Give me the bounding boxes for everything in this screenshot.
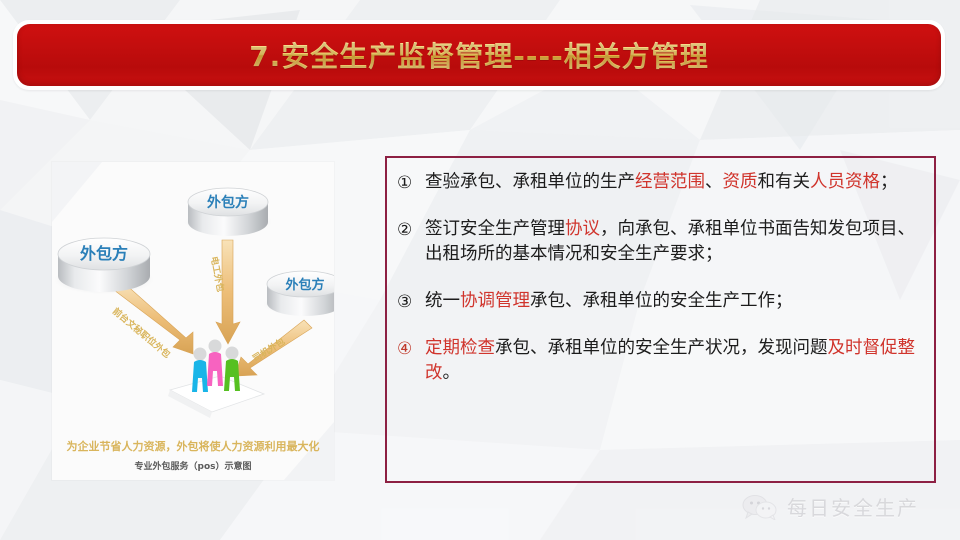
- figure-node-top: 外包方: [188, 188, 268, 236]
- requirements-list: ① 查验承包、承租单位的生产经营范围、资质和有关人员资格； ② 签订安全生产管理…: [397, 170, 920, 386]
- figure-caption: 为企业节省人力资源，外包将使人力资源利用最大化: [67, 439, 320, 453]
- spacer: [397, 195, 920, 217]
- highlight-text: 经营范围: [635, 172, 705, 192]
- plain-text: 。: [443, 363, 461, 383]
- outsourcing-diagram-svg: 外包方 外包方 外包方 前台文秘职位外包 电工外包 司机外包: [52, 162, 334, 480]
- watermark-text: 每日安全生产: [787, 492, 919, 521]
- node-left-label: 外包方: [79, 244, 128, 263]
- plain-text: 承包、承租单位的安全生产工作；: [530, 291, 793, 311]
- figure-node-left: 外包方: [58, 238, 150, 292]
- list-item-text: 查验承包、承租单位的生产经营范围、资质和有关人员资格；: [425, 170, 920, 195]
- list-item-text: 统一协调管理承包、承租单位的安全生产工作；: [425, 289, 920, 314]
- highlight-text: 定期检查: [425, 338, 495, 358]
- spacer: [397, 267, 920, 289]
- node-top-label: 外包方: [207, 194, 249, 211]
- spacer: [397, 314, 920, 336]
- outsourcing-diagram-image: 外包方 外包方 外包方 前台文秘职位外包 电工外包 司机外包: [52, 162, 334, 480]
- highlight-text: 人员资格: [810, 172, 880, 192]
- node-right-label: 外包方: [284, 277, 324, 293]
- plain-text: 、: [705, 172, 723, 192]
- list-item-text: 定期检查承包、承租单位的安全生产状况，发现问题及时督促整改。: [425, 336, 920, 386]
- list-item: ③ 统一协调管理承包、承租单位的安全生产工作；: [397, 289, 920, 314]
- highlight-text: 协调管理: [460, 291, 530, 311]
- plain-text: 承包、承租单位的安全生产状况，发现问题: [495, 338, 828, 358]
- figure-node-right: 外包方: [267, 271, 334, 316]
- plain-text: ；: [880, 172, 898, 192]
- plain-text: 统一: [425, 291, 460, 311]
- title-banner: 7.安全生产监督管理----相关方管理: [13, 20, 945, 90]
- list-item: ④ 定期检查承包、承租单位的安全生产状况，发现问题及时督促整改。: [397, 336, 920, 386]
- title-banner-inner: 7.安全生产监督管理----相关方管理: [17, 24, 941, 86]
- plain-text: 和有关: [758, 172, 811, 192]
- slide-canvas: 7.安全生产监督管理----相关方管理: [0, 0, 960, 540]
- plain-text: 查验承包、承租单位的生产: [425, 172, 635, 192]
- list-item-text: 签订安全生产管理协议，向承包、承租单位书面告知发包项目、出租场所的基本情况和安全…: [425, 217, 920, 267]
- list-item: ② 签订安全生产管理协议，向承包、承租单位书面告知发包项目、出租场所的基本情况和…: [397, 217, 920, 267]
- list-item-marker: ①: [397, 170, 425, 195]
- page-title: 7.安全生产监督管理----相关方管理: [249, 35, 709, 75]
- figure-subcaption: 专业外包服务（pos）示意图: [135, 460, 252, 472]
- list-item-marker: ③: [397, 289, 425, 314]
- list-item-marker: ②: [397, 217, 425, 242]
- highlight-text: 资质: [723, 172, 758, 192]
- watermark: 每日安全生产: [742, 492, 919, 521]
- highlight-text: 协议: [565, 219, 600, 239]
- plain-text: 签订安全生产管理: [425, 219, 565, 239]
- list-item-marker: ④: [397, 336, 425, 361]
- wechat-icon: [742, 494, 778, 520]
- requirements-box: ① 查验承包、承租单位的生产经营范围、资质和有关人员资格； ② 签订安全生产管理…: [385, 156, 936, 483]
- list-item: ① 查验承包、承租单位的生产经营范围、资质和有关人员资格；: [397, 170, 920, 195]
